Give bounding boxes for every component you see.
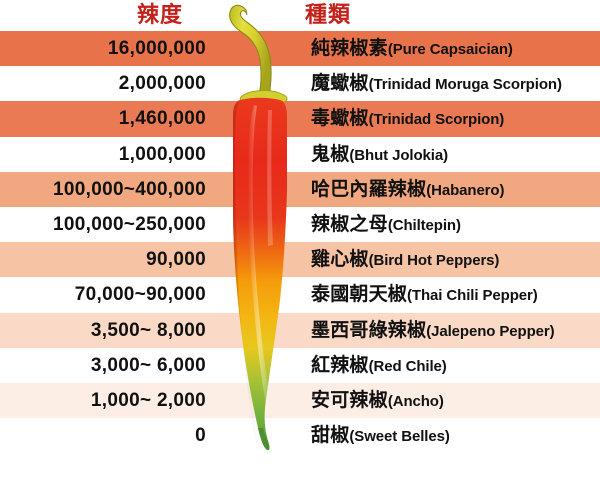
pepper-name-cn: 毒蠍椒 [311,108,369,129]
table-row: 100,000~400,000哈巴內羅辣椒(Habanero) [0,172,600,207]
cell-pepper-name: 泰國朝天椒(Thai Chili Pepper) [311,277,538,312]
cell-scoville-value: 3,500~ 8,000 [0,313,206,348]
pepper-name-cn: 哈巴內羅辣椒 [311,179,426,200]
table-row: 2,000,000魔蠍椒(Trinidad Moruga Scorpion) [0,66,600,101]
table-text-layer: 辣度 種類 16,000,000純辣椒素(Pure Capsaician)2,0… [0,0,600,479]
pepper-name-en: (Bhut Jolokia) [349,147,448,164]
scoville-heat-chart: 辣度 種類 16,000,000純辣椒素(Pure Capsaician)2,0… [0,0,600,479]
pepper-name-cn: 魔蠍椒 [311,73,369,94]
pepper-name-en: (Jalepeno Pepper) [426,323,554,340]
cell-scoville-value: 3,000~ 6,000 [0,348,206,383]
table-row: 1,000~ 2,000安可辣椒(Ancho) [0,383,600,418]
pepper-name-en: (Thai Chili Pepper) [407,287,538,304]
pepper-name-cn: 雞心椒 [311,249,369,270]
table-row: 16,000,000純辣椒素(Pure Capsaician) [0,31,600,66]
cell-scoville-value: 70,000~90,000 [0,277,206,312]
cell-pepper-name: 鬼椒(Bhut Jolokia) [311,137,448,172]
pepper-name-cn: 泰國朝天椒 [311,284,407,305]
cell-scoville-value: 1,460,000 [0,101,206,136]
cell-scoville-value: 16,000,000 [0,31,206,66]
pepper-name-en: (Pure Capsaician) [388,41,513,58]
pepper-name-en: (Red Chile) [369,358,447,375]
pepper-name-cn: 紅辣椒 [311,355,369,376]
cell-pepper-name: 毒蠍椒(Trinidad Scorpion) [311,101,504,136]
table-row: 100,000~250,000辣椒之母(Chiltepin) [0,207,600,242]
cell-scoville-value: 0 [0,418,206,453]
pepper-name-en: (Sweet Belles) [349,428,449,445]
cell-pepper-name: 純辣椒素(Pure Capsaician) [311,31,513,66]
cell-scoville-value: 90,000 [0,242,206,277]
table-row: 70,000~90,000泰國朝天椒(Thai Chili Pepper) [0,277,600,312]
pepper-name-cn: 甜椒 [311,425,349,446]
pepper-name-cn: 安可辣椒 [311,390,388,411]
cell-pepper-name: 安可辣椒(Ancho) [311,383,444,418]
table-row: 3,000~ 6,000紅辣椒(Red Chile) [0,348,600,383]
column-header-scoville: 辣度 [137,1,183,29]
table-header: 辣度 種類 [0,0,600,31]
cell-scoville-value: 100,000~400,000 [0,172,206,207]
table-row: 1,000,000鬼椒(Bhut Jolokia) [0,137,600,172]
pepper-name-en: (Bird Hot Peppers) [369,252,500,269]
cell-scoville-value: 1,000~ 2,000 [0,383,206,418]
cell-scoville-value: 100,000~250,000 [0,207,206,242]
pepper-name-en: (Trinidad Moruga Scorpion) [369,76,562,93]
pepper-name-en: (Ancho) [388,393,444,410]
cell-scoville-value: 2,000,000 [0,66,206,101]
pepper-name-en: (Chiltepin) [388,217,461,234]
pepper-name-cn: 辣椒之母 [311,214,388,235]
cell-pepper-name: 甜椒(Sweet Belles) [311,418,450,453]
pepper-name-cn: 鬼椒 [311,144,349,165]
cell-pepper-name: 魔蠍椒(Trinidad Moruga Scorpion) [311,66,562,101]
pepper-name-cn: 純辣椒素 [311,38,388,59]
pepper-name-en: (Trinidad Scorpion) [369,111,505,128]
column-header-type: 種類 [305,1,351,29]
cell-pepper-name: 雞心椒(Bird Hot Peppers) [311,242,499,277]
pepper-name-cn: 墨西哥綠辣椒 [311,320,426,341]
table-row: 1,460,000毒蠍椒(Trinidad Scorpion) [0,101,600,136]
table-row: 90,000雞心椒(Bird Hot Peppers) [0,242,600,277]
cell-pepper-name: 墨西哥綠辣椒(Jalepeno Pepper) [311,313,555,348]
cell-scoville-value: 1,000,000 [0,137,206,172]
table-row: 0甜椒(Sweet Belles) [0,418,600,453]
table-row: 3,500~ 8,000墨西哥綠辣椒(Jalepeno Pepper) [0,313,600,348]
cell-pepper-name: 哈巴內羅辣椒(Habanero) [311,172,504,207]
cell-pepper-name: 辣椒之母(Chiltepin) [311,207,461,242]
pepper-name-en: (Habanero) [426,182,504,199]
cell-pepper-name: 紅辣椒(Red Chile) [311,348,447,383]
